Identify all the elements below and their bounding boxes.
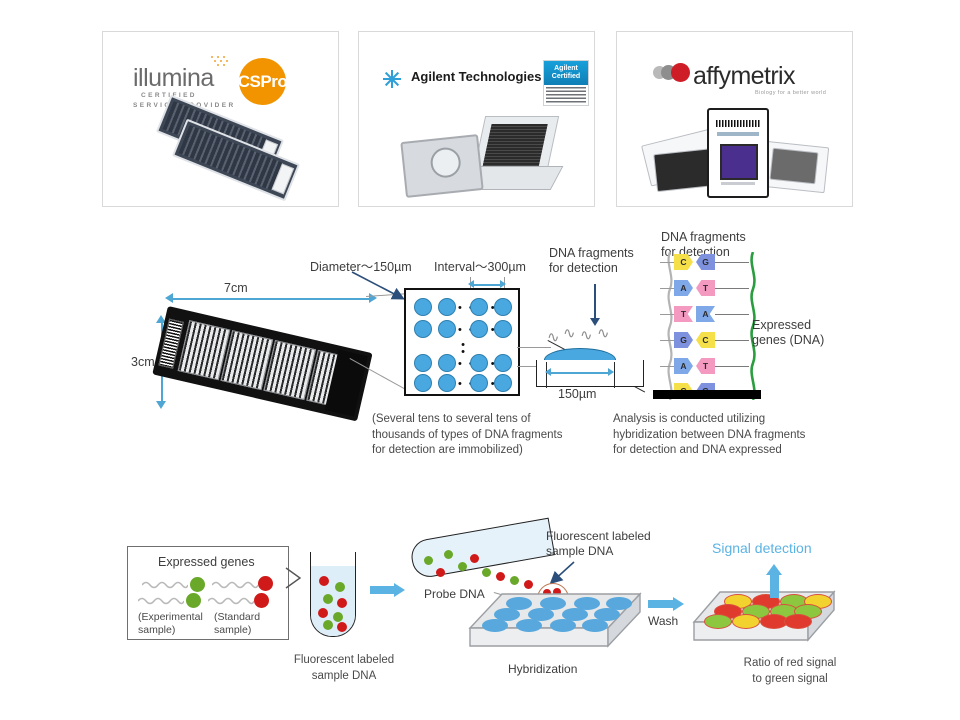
red-dot [337, 622, 347, 632]
green-label-dot [190, 577, 205, 592]
signal-detection-label: Signal detection [712, 540, 812, 556]
array-spot [494, 374, 512, 392]
result-spot [784, 614, 812, 629]
red-dot [524, 580, 533, 589]
red-dot [496, 572, 505, 581]
base-t: T [696, 280, 715, 296]
wash-arrow [648, 597, 686, 611]
result-slab [694, 592, 834, 648]
red-dot [470, 554, 479, 563]
ratio-caption: Ratio of red signal to green signal [700, 656, 880, 687]
array-spot [414, 320, 432, 338]
result-spot [704, 614, 732, 629]
green-dot [458, 562, 467, 571]
base-c: C [696, 332, 715, 348]
agilent-badge-line2: Certified [552, 73, 580, 81]
squiggle-icon: ∿ [580, 326, 593, 344]
illumina-logo: illumina CSPro CERTIFIED SERVICE PROVIDE… [133, 60, 313, 106]
cspro-badge: CSPro [239, 58, 286, 105]
base-g: G [696, 254, 715, 270]
probe-spot [482, 619, 508, 632]
green-dot [510, 576, 519, 585]
agilent-badge-line1: Agilent [554, 65, 578, 73]
red-label-dot [254, 593, 269, 608]
dna-fragments-detection-label: DNA fragments for detection [549, 246, 634, 276]
affymetrix-genechip-image [645, 102, 830, 202]
illumina-dots-icon [211, 56, 247, 68]
base-t: T [696, 358, 715, 374]
vendor-card-affymetrix: affymetrix Biology for a better world [616, 31, 853, 207]
hybridization-slab [470, 594, 640, 652]
spot-width-label: 150µm [558, 387, 596, 402]
result-spot [732, 614, 760, 629]
tube-caption: Fluorescent labeled sample DNA [274, 653, 414, 684]
array-spot [414, 298, 432, 316]
agilent-star-icon [383, 70, 401, 88]
array-spot [494, 320, 512, 338]
affymetrix-tagline: Biology for a better world [755, 90, 826, 96]
base-pair: G C [655, 332, 727, 349]
gene-strand-icon [208, 596, 254, 606]
sample-test-tube [310, 552, 356, 637]
caption-hybridization: Analysis is conducted utilizing hybridiz… [613, 412, 863, 459]
base-pair: T A [655, 306, 727, 323]
expressed-genes-title: Expressed genes [158, 555, 255, 570]
red-label-dot [258, 576, 273, 591]
standard-sample-label: (Standard sample) [214, 611, 284, 637]
agilent-badge-subtext [546, 87, 586, 103]
microarray-slide-photo [168, 306, 378, 402]
slide-width-label: 7cm [224, 281, 248, 296]
spot-width-arrow [550, 372, 610, 374]
probe-spot [550, 619, 576, 632]
expressed-genes-dna-label: Expressed genes (DNA) [752, 318, 824, 348]
grid-vertical-dots: •• [456, 342, 470, 356]
fluorescent-labeled-sample-label: Fluorescent labeled sample DNA [546, 529, 651, 559]
red-dot [436, 568, 445, 577]
red-dot [319, 576, 329, 586]
green-dot [424, 556, 433, 565]
base-a: A [696, 306, 715, 322]
base-c: C [674, 254, 693, 270]
array-spot [494, 298, 512, 316]
base-pair: A T [655, 358, 727, 375]
squiggle-icon: ∿ [597, 324, 610, 342]
diagram-canvas: illumina CSPro CERTIFIED SERVICE PROVIDE… [0, 0, 960, 720]
illumina-beadchip-image [143, 110, 303, 198]
agilent-wordmark: Agilent Technologies [411, 69, 542, 84]
gene-strand-icon [138, 596, 184, 606]
array-spot [438, 320, 456, 338]
green-dot [323, 594, 333, 604]
illumina-wordmark: illumina [133, 64, 214, 93]
slide-height-label: 3cm [131, 355, 155, 370]
array-spot [470, 320, 488, 338]
probe-spot [516, 619, 542, 632]
red-dot [337, 598, 347, 608]
green-dot [335, 582, 345, 592]
agilent-certified-badge: Agilent Certified [543, 60, 589, 106]
diameter-pointer-arrow [352, 272, 412, 300]
substrate-bar [653, 390, 761, 399]
array-spot [438, 354, 456, 372]
affymetrix-wordmark: affymetrix [693, 62, 795, 91]
probe-spot [582, 619, 608, 632]
gene-strand-icon [142, 580, 188, 590]
signal-detection-arrow [766, 564, 782, 598]
green-dot [333, 612, 343, 622]
squiggle-icon: ∿ [547, 328, 560, 346]
base-a: A [674, 358, 693, 374]
red-dot [318, 608, 328, 618]
vendor-card-illumina: illumina CSPro CERTIFIED SERVICE PROVIDE… [102, 31, 339, 207]
expressed-genes-box: Expressed genes (Experimental sample) (S… [127, 546, 289, 640]
vendor-card-agilent: Agilent Technologies Agilent Certified [358, 31, 595, 207]
genebox-to-tube-connector [286, 568, 312, 590]
dna-fragments-arrow [594, 284, 596, 320]
hybridization-caption: Hybridization [508, 662, 577, 677]
green-dot [482, 568, 491, 577]
base-g: G [674, 332, 693, 348]
slide-width-arrow [172, 298, 370, 300]
base-pair: C G [655, 254, 727, 271]
green-dot [323, 620, 333, 630]
base-a: A [674, 280, 693, 296]
affymetrix-logo: affymetrix Biology for a better world [645, 62, 835, 102]
array-spot [494, 354, 512, 372]
array-spot [470, 374, 488, 392]
workflow-arrow-1 [370, 583, 406, 597]
agilent-instrument-image [397, 110, 567, 200]
base-t: T [674, 306, 693, 322]
wash-label: Wash [648, 614, 678, 629]
experimental-sample-label: (Experimental sample) [138, 611, 218, 637]
probe-strand-icon [665, 252, 675, 400]
spot-interval-label: Interval〜300µm [434, 260, 526, 275]
squiggle-icon: ∿ [563, 324, 576, 342]
array-spot [470, 298, 488, 316]
green-label-dot [186, 593, 201, 608]
array-spot [438, 298, 456, 316]
array-spot [414, 354, 432, 372]
interval-arrow [472, 284, 503, 286]
spot-grid-box: • • • • • • • • •• • • • • • • • • [404, 288, 520, 396]
array-spot [414, 374, 432, 392]
gene-strand-icon [212, 580, 258, 590]
array-spot [470, 354, 488, 372]
green-dot [444, 550, 453, 559]
array-spot [438, 374, 456, 392]
agilent-logo: Agilent Technologies Agilent Certified [383, 64, 578, 100]
base-pair: A T [655, 280, 727, 297]
caption-immobilized: (Several tens to several tens of thousan… [372, 412, 622, 459]
